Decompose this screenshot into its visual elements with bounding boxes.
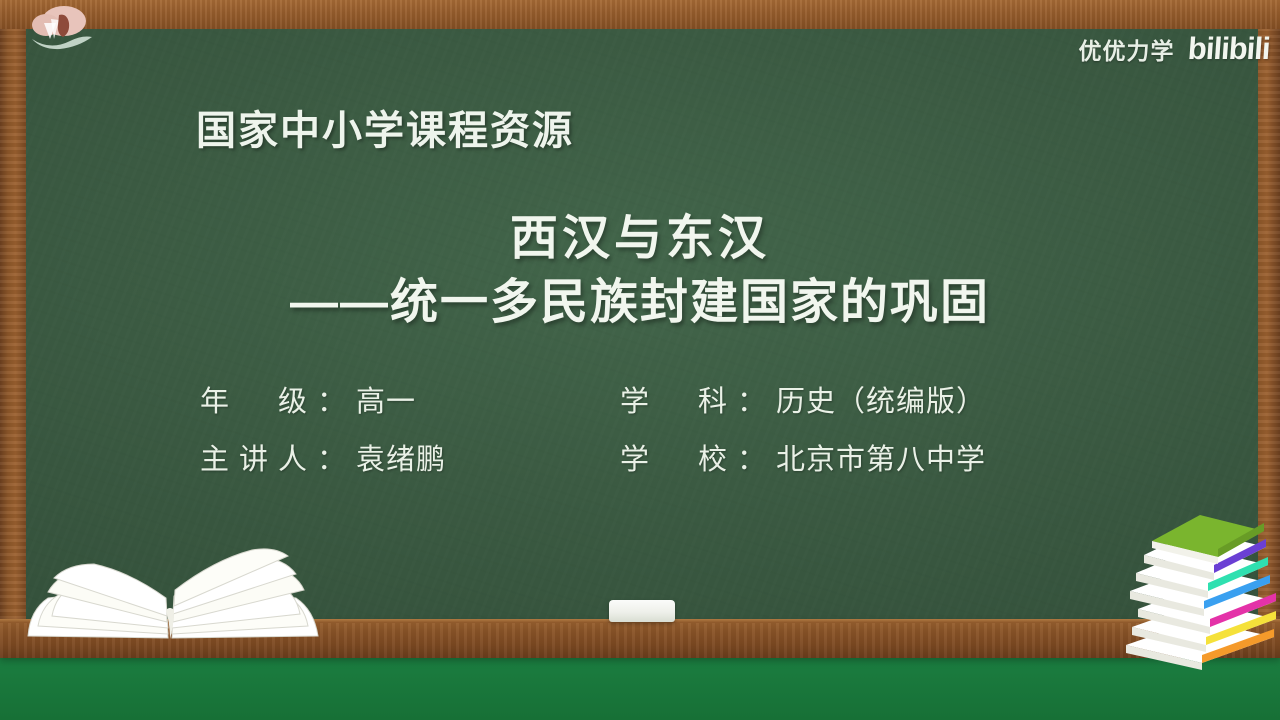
lesson-subtitle: ——统一多民族封建国家的巩固 — [0, 262, 1280, 332]
info-grade: 年 级：高一 — [200, 378, 620, 420]
info-school-label: 学 校： — [620, 444, 776, 476]
organization-title: 国家中小学课程资源 — [196, 98, 574, 156]
brand-cluster: 优优力学 bilibili — [1078, 31, 1254, 67]
bottom-green-panel — [0, 657, 1280, 720]
frame-top-wood — [0, 0, 1280, 29]
info-grade-label: 年 级： — [200, 386, 356, 418]
chalk-eraser-icon — [609, 600, 675, 622]
info-presenter-label: 主讲人： — [200, 444, 356, 476]
info-school-value: 北京市第八中学 — [776, 444, 986, 476]
info-grade-value: 高一 — [356, 386, 416, 418]
slide-root: 优优力学 bilibili 国家中小学课程资源 西汉与东汉 ——统一多民族封建国… — [0, 0, 1280, 720]
lesson-info-grid: 年 级：高一 学 科：历史（统编版） 主讲人：袁绪鹏 学 校：北京市第八中学 — [200, 378, 1070, 478]
stacked-books-icon — [1116, 505, 1280, 670]
cloud-brush-emblem-icon — [26, 3, 98, 55]
info-presenter-value: 袁绪鹏 — [356, 444, 446, 476]
lesson-title: 西汉与东汉 — [0, 198, 1280, 268]
bilibili-logo: bilibili — [1187, 31, 1271, 67]
info-presenter: 主讲人：袁绪鹏 — [200, 436, 620, 478]
info-subject-value: 历史（统编版） — [776, 386, 986, 418]
info-subject: 学 科：历史（统编版） — [620, 378, 1070, 420]
info-subject-label: 学 科： — [620, 386, 776, 418]
open-book-icon — [8, 540, 338, 650]
info-school: 学 校：北京市第八中学 — [620, 436, 1070, 478]
partner-brand-text: 优优力学 — [1078, 32, 1174, 66]
